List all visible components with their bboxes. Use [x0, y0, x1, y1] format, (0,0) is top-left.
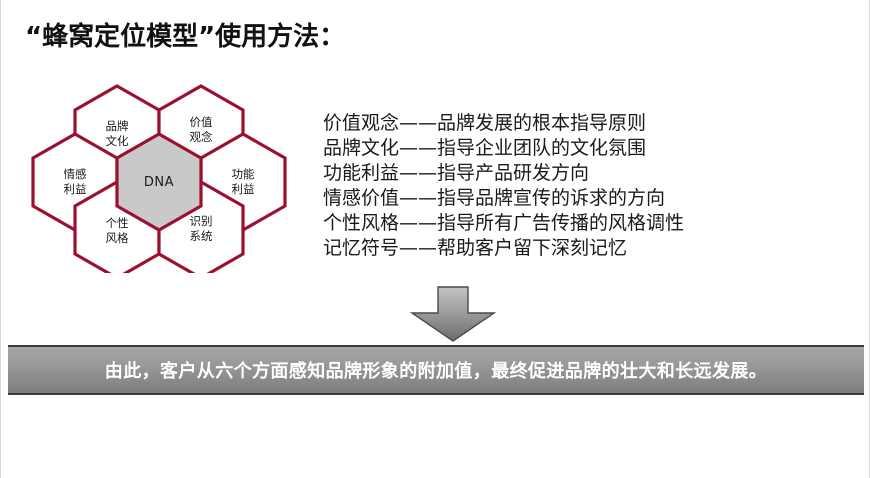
- hex-label-personality-style-line2: 风格: [106, 231, 129, 245]
- hex-label-emotional-benefit-line1: 情感: [64, 167, 87, 181]
- honeycomb-diagram: 品牌 文化 价值 观念 情感 利益 功能 利益 个性 风格 识别 系统 DNA: [19, 78, 319, 273]
- summary-banner: 由此，客户从六个方面感知品牌形象的附加值，最终促进品牌的壮大和长远发展。: [8, 345, 864, 395]
- page-title: “蜂窝定位模型”使用方法：: [25, 16, 345, 53]
- slide-canvas: “蜂窝定位模型”使用方法： 品牌 文化: [0, 0, 870, 478]
- arrow-down-icon: [409, 285, 497, 343]
- definition-list: 价值观念——品牌发展的根本指导原则 品牌文化——指导企业团队的文化氛围 功能利益…: [323, 111, 743, 261]
- hex-label-personality-style-line1: 个性: [106, 216, 129, 230]
- hex-label-identity-system-line1: 识别: [190, 214, 213, 228]
- definition-row: 功能利益——指导产品研发方向: [323, 161, 743, 186]
- hex-label-value-concept-line2: 观念: [190, 130, 213, 144]
- hex-label-brand-culture-line1: 品牌: [106, 119, 129, 133]
- hex-label-identity-system-line2: 系统: [190, 229, 213, 243]
- summary-banner-text: 由此，客户从六个方面感知品牌形象的附加值，最终促进品牌的壮大和长远发展。: [105, 357, 767, 383]
- definition-row: 品牌文化——指导企业团队的文化氛围: [323, 136, 743, 161]
- definition-row: 情感价值——指导品牌宣传的诉求的方向: [323, 186, 743, 211]
- hex-label-value-concept-line1: 价值: [190, 115, 213, 129]
- hex-label-functional-benefit-line1: 功能: [232, 167, 255, 181]
- definition-row: 个性风格——指导所有广告传播的风格调性: [323, 211, 743, 236]
- hex-label-functional-benefit-line2: 利益: [232, 182, 255, 196]
- definition-row: 价值观念——品牌发展的根本指导原则: [323, 111, 743, 136]
- hex-label-dna-core: DNA: [144, 175, 174, 190]
- hex-label-brand-culture-line2: 文化: [106, 134, 129, 148]
- hex-label-emotional-benefit-line2: 利益: [64, 182, 87, 196]
- definition-row: 记忆符号——帮助客户留下深刻记忆: [323, 236, 743, 261]
